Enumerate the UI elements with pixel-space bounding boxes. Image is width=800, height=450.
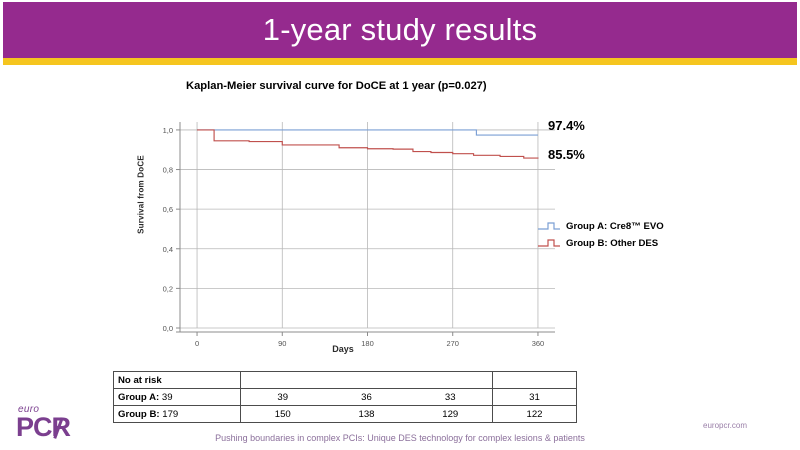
svg-text:0,0: 0,0 <box>163 324 173 333</box>
number-at-risk-table: No at risk Group A: 39 39 36 33 31 Group… <box>113 371 577 423</box>
risk-table-header-blank <box>241 372 325 389</box>
legend-label-group-b: Group B: Other DES <box>566 238 658 249</box>
legend-item-group-a: Group A: Cre8™ EVO <box>537 219 717 234</box>
table-row: Group A: 39 39 36 33 31 <box>114 389 577 406</box>
y-axis-ticks: 0,00,20,40,60,81,0 <box>163 126 180 333</box>
svg-text:0,6: 0,6 <box>163 205 173 214</box>
legend-swatch-step-icon <box>537 221 561 232</box>
endpoint-label-group-b: 85.5% <box>548 147 585 162</box>
x-axis-title: Days <box>118 344 568 354</box>
risk-table-header-label: No at risk <box>114 372 241 389</box>
risk-row-label-group-b: Group B: 179 <box>114 406 241 423</box>
table-row-header: No at risk <box>114 372 577 389</box>
risk-table-header-blank <box>409 372 493 389</box>
svg-text:0,4: 0,4 <box>163 245 173 254</box>
legend-swatch-step-icon <box>537 238 561 249</box>
endpoint-label-group-a: 97.4% <box>548 118 585 133</box>
grid-lines <box>180 122 555 328</box>
risk-table-header-blank <box>493 372 577 389</box>
risk-row-label-group-a: Group A: 39 <box>114 389 241 406</box>
table-row: Group B: 179 150 138 129 122 <box>114 406 577 423</box>
svg-text:0,2: 0,2 <box>163 284 173 293</box>
risk-row-label-bold: Group A: <box>118 392 159 403</box>
svg-text:1,0: 1,0 <box>163 126 173 135</box>
y-axis-title: Survival from DoCE <box>137 130 146 260</box>
risk-cell: 129 <box>409 406 493 423</box>
risk-cell: 138 <box>325 406 409 423</box>
slide-header-bar: 1-year study results <box>3 2 797 58</box>
risk-cell: 31 <box>493 389 577 406</box>
risk-cell: 33 <box>409 389 493 406</box>
legend-item-group-b: Group B: Other DES <box>537 236 717 251</box>
chart-title: Kaplan-Meier survival curve for DoCE at … <box>186 80 487 92</box>
chart-legend: Group A: Cre8™ EVO Group B: Other DES <box>537 219 717 253</box>
header-accent-stripe <box>3 58 797 65</box>
kaplan-meier-chart: Survival from DoCE Days 0,00,20,40,60,81… <box>118 106 568 362</box>
footer-tagline: Pushing boundaries in complex PCIs: Uniq… <box>0 433 800 443</box>
risk-cell: 122 <box>493 406 577 423</box>
risk-cell: 39 <box>241 389 325 406</box>
risk-row-label-bold: Group B: <box>118 409 160 420</box>
chart-plot-svg: 0,00,20,40,60,81,0 090180270360 <box>118 106 568 356</box>
legend-label-group-a: Group A: Cre8™ EVO <box>566 221 664 232</box>
footer-url: europcr.com <box>703 421 747 430</box>
risk-cell: 36 <box>325 389 409 406</box>
svg-text:0,8: 0,8 <box>163 166 173 175</box>
risk-row-label-value: 179 <box>162 409 178 420</box>
risk-table-header-blank <box>325 372 409 389</box>
risk-cell: 150 <box>241 406 325 423</box>
risk-row-label-value: 39 <box>162 392 173 403</box>
page-title: 1-year study results <box>3 2 797 58</box>
slide-canvas: 1-year study results Kaplan-Meier surviv… <box>0 0 800 450</box>
